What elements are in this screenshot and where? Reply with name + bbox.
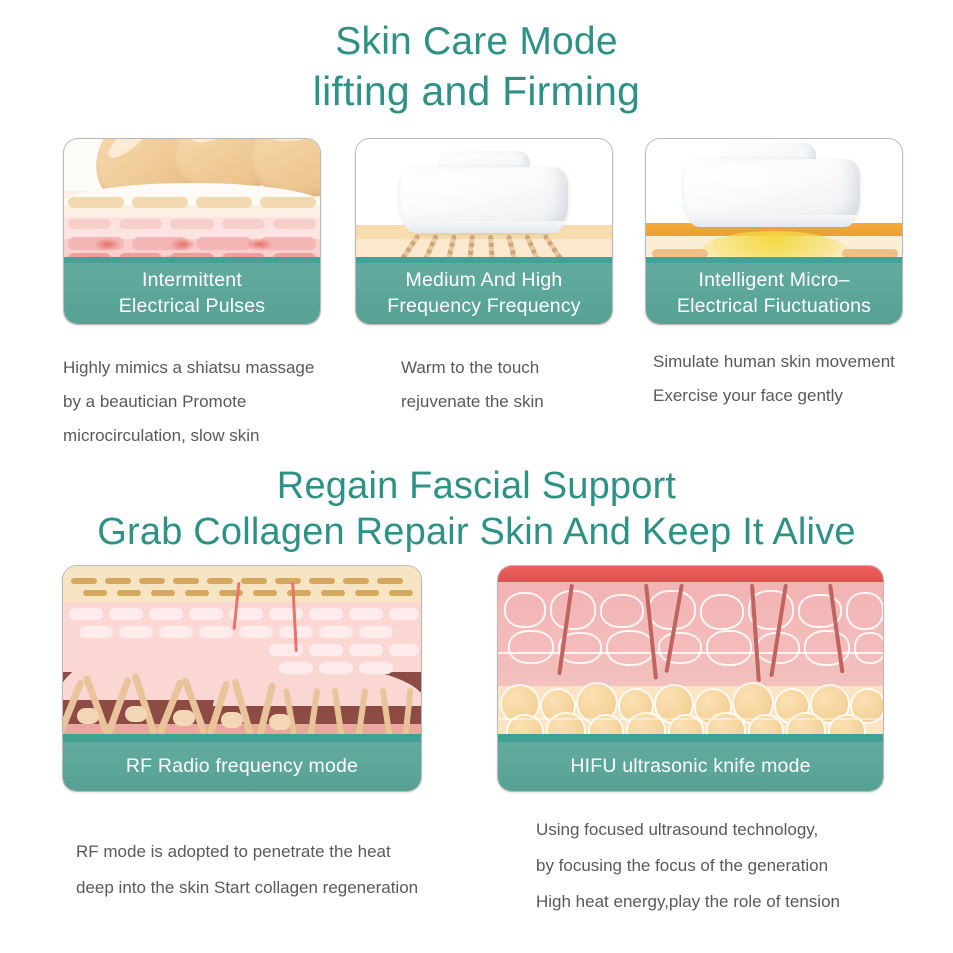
card-description-1: Highly mimics a shiatsu massage by a bea… xyxy=(63,351,314,453)
title-mid-line2: Grab Collagen Repair Skin And Keep It Al… xyxy=(0,509,953,555)
infographic-page: Skin Care Mode lifting and Firming xyxy=(0,0,953,953)
page-title-top: Skin Care Mode lifting and Firming xyxy=(0,18,953,116)
card-label-band: RF Radio frequency mode xyxy=(63,742,421,791)
card-label-band: Medium And High Frequency Frequency xyxy=(356,263,612,324)
desc-line: deep into the skin Start collagen regene… xyxy=(76,870,418,906)
card-label-band: HIFU ultrasonic knife mode xyxy=(498,742,883,791)
illustration-device-head-energy-glow xyxy=(646,139,902,265)
card-label-line2: Electrical Fiuctuations xyxy=(677,294,871,319)
desc-line: by a beautician Promote xyxy=(63,385,314,419)
desc-line: RF mode is adopted to penetrate the heat xyxy=(76,834,418,870)
desc-line: Simulate human skin movement xyxy=(653,345,895,379)
card-description-4: RF mode is adopted to penetrate the heat… xyxy=(76,834,418,906)
card-label-line1: Medium And High xyxy=(406,268,563,293)
card-label-line1: Intelligent Micro– xyxy=(698,268,849,293)
feature-card-intermittent-pulses: Intermittent Electrical Pulses xyxy=(63,138,321,325)
title-top-line1: Skin Care Mode xyxy=(0,18,953,66)
card-label-band: Intelligent Micro– Electrical Fiuctuatio… xyxy=(646,263,902,324)
desc-line: microcirculation, slow skin xyxy=(63,419,314,453)
feature-card-intelligent-micro-electrical: Intelligent Micro– Electrical Fiuctuatio… xyxy=(645,138,903,325)
desc-line: rejuvenate the skin xyxy=(401,385,544,419)
illustration-fat-layer-vessels xyxy=(498,566,883,744)
illustration-fingers-pressing-skin xyxy=(64,139,320,265)
title-top-line2: lifting and Firming xyxy=(0,66,953,116)
desc-line: High heat energy,play the role of tensio… xyxy=(536,884,840,920)
feature-card-rf-radio-frequency: RF Radio frequency mode xyxy=(62,565,422,792)
desc-line: Using focused ultrasound technology, xyxy=(536,812,840,848)
desc-line: by focusing the focus of the generation xyxy=(536,848,840,884)
desc-line: Highly mimics a shiatsu massage xyxy=(63,351,314,385)
title-mid-line1: Regain Fascial Support xyxy=(0,463,953,509)
card-description-2: Warm to the touch rejuvenate the skin xyxy=(401,351,544,419)
desc-line: Exercise your face gently xyxy=(653,379,895,413)
card-label-line2: Frequency Frequency xyxy=(387,294,580,319)
card-label-band: Intermittent Electrical Pulses xyxy=(64,263,320,324)
desc-line: Warm to the touch xyxy=(401,351,544,385)
illustration-device-head-fibers xyxy=(356,139,612,265)
card-description-3: Simulate human skin movement Exercise yo… xyxy=(653,345,895,413)
page-title-middle: Regain Fascial Support Grab Collagen Rep… xyxy=(0,463,953,556)
card-label: HIFU ultrasonic knife mode xyxy=(570,754,810,779)
card-label: RF Radio frequency mode xyxy=(126,754,358,779)
card-label-line2: Electrical Pulses xyxy=(119,294,265,319)
feature-card-hifu-ultrasonic-knife: HIFU ultrasonic knife mode xyxy=(497,565,884,792)
feature-card-medium-high-frequency: Medium And High Frequency Frequency xyxy=(355,138,613,325)
illustration-collagen-mesh-dermis xyxy=(63,566,421,744)
card-label-line1: Intermittent xyxy=(142,268,242,293)
card-description-5: Using focused ultrasound technology, by … xyxy=(536,812,840,920)
